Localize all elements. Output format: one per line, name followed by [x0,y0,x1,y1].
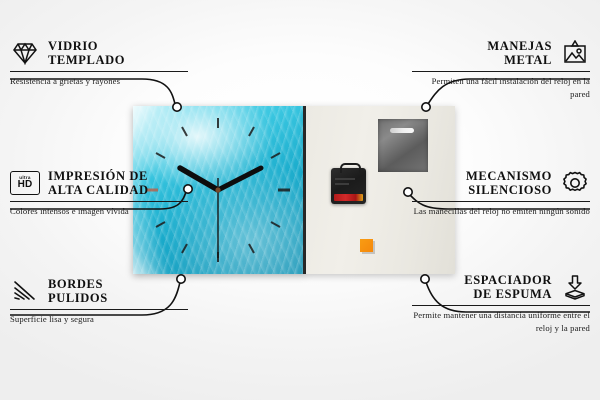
picture-frame-icon [560,38,590,68]
feature-espaciador-espuma: ESPACIADOR DE ESPUMA Permite mantener un… [412,272,590,334]
feature-header: VIDRIO TEMPLADO [10,38,188,71]
feature-header: MANEJAS METAL [412,38,590,71]
feature-description: Colores intensos e imagen vívida [10,202,188,217]
feature-title: VIDRIO TEMPLADO [48,39,188,67]
foam-spacer-icon [560,272,590,302]
feature-bordes-pulidos: BORDES PULIDOS Superficie lisa y segura [10,276,188,326]
gear-icon [560,168,590,198]
feature-header: ESPACIADOR DE ESPUMA [412,272,590,305]
foam-spacer-pad [360,239,373,252]
feature-header: ultra HD IMPRESIÓN DE ALTA CALIDAD [10,168,188,201]
polished-edges-icon [10,276,40,306]
battery [334,194,363,201]
feature-description: Las manecillas del reloj no emiten ningú… [412,202,590,217]
feature-vidrio-templado: VIDRIO TEMPLADO Resistencia a grietas y … [10,38,188,88]
feature-manejas-metal: MANEJAS METAL Permiten una fácil instala… [412,38,590,100]
mechanism-detail-line [335,178,355,180]
metal-hanger-plate [378,119,428,172]
mechanism-hook [340,163,361,173]
feature-header: MECANISMO SILENCIOSO [412,168,590,201]
ultra-hd-icon: ultra HD [10,168,40,198]
feature-description: Superficie lisa y segura [10,310,188,325]
feature-description: Permite mantener una distancia uniforme … [412,306,590,333]
feature-title: BORDES PULIDOS [48,277,188,305]
clock-minute-hand [218,168,261,190]
ultra-hd-hd-label: HD [18,180,33,190]
feature-description: Resistencia a grietas y rayones [10,72,188,87]
mechanism-detail-line [335,183,349,185]
feature-description: Permiten una fácil instalación del reloj… [412,72,590,99]
feature-title: IMPRESIÓN DE ALTA CALIDAD [48,169,188,197]
clock-mechanism-box [331,168,366,204]
feature-title: MANEJAS METAL [412,39,552,67]
feature-header: BORDES PULIDOS [10,276,188,309]
feature-impresion-alta-calidad: ultra HD IMPRESIÓN DE ALTA CALIDAD Color… [10,168,188,218]
product-infographic: VIDRIO TEMPLADO Resistencia a grietas y … [0,0,600,400]
feature-mecanismo-silencioso: MECANISMO SILENCIOSO Las manecillas del … [412,168,590,218]
hanger-slot [390,128,414,133]
diamond-icon [10,38,40,68]
clock-center-cap [215,187,220,192]
feature-title: MECANISMO SILENCIOSO [412,169,552,197]
feature-title: ESPACIADOR DE ESPUMA [412,273,552,301]
